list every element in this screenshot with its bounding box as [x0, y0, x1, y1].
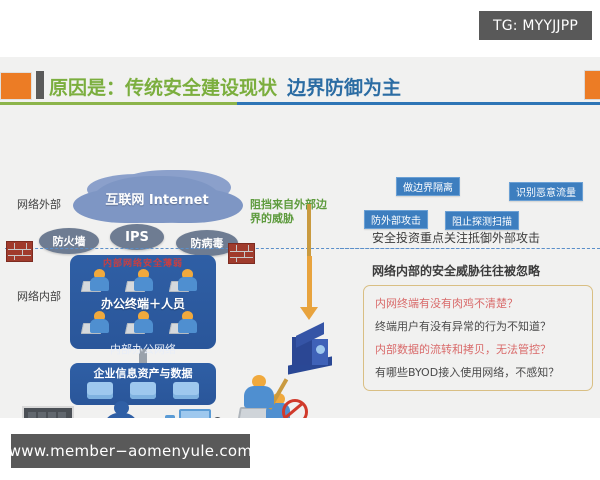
internal-network-secondary-label: 内部办公网络: [70, 341, 216, 357]
laptop-byod-icon: [22, 406, 74, 418]
question-item: 有哪些BYOD接入使用网络，不感知？: [375, 366, 559, 379]
internal-network-red-banner: 内部网络安全薄弱: [70, 256, 216, 269]
title-rule-blue: [237, 102, 600, 105]
tg-watermark-badge: TG: MYYJJPP: [479, 11, 592, 40]
internal-network-primary-label: 办公终端＋人员: [70, 295, 216, 312]
database-icon: [87, 382, 113, 399]
server-rack-icon: [288, 329, 332, 371]
title-orange-block-right: [584, 70, 600, 100]
user-workstation-icon: [170, 311, 204, 337]
down-arrow-head-icon: [300, 307, 318, 320]
device-ips: IPS: [110, 224, 164, 250]
analyst-person-icon: [240, 375, 280, 409]
slide-canvas: 原因是：传统安全建设现状 边界防御为主 网络外部 网络内部 互联网 Intern…: [0, 57, 600, 418]
database-icon: [173, 382, 199, 399]
zone-label-inside: 网络内部: [17, 288, 61, 304]
user-workstation-icon: [170, 269, 204, 295]
apt-attack-icon: [163, 405, 225, 418]
database-icon: [130, 382, 156, 399]
question-item: 终端用户有没有异常的行为不知道？: [375, 320, 551, 333]
firewall-brick-icon-left: [6, 241, 33, 262]
tag-identify-malicious-traffic: 识别恶意流量: [509, 182, 583, 201]
gold-divider: [307, 204, 311, 256]
statement-top: 安全投资重点关注抵御外部攻击: [372, 229, 540, 246]
title-grey-bar: [36, 71, 44, 99]
down-arrow-icon: [307, 256, 312, 309]
page-title: 原因是：传统安全建设现状 边界防御为主: [49, 73, 401, 99]
site-watermark-badge: www.member−aomenyule.com: [11, 434, 250, 468]
tag-external-attack-defense: 防外部攻击: [364, 210, 428, 229]
page-title-blue: 边界防御为主: [287, 73, 401, 100]
malicious-user-icon: [100, 401, 142, 418]
user-workstation-icon: [82, 311, 116, 337]
center-note-text: 阻挡来自外部边界的威胁: [250, 198, 336, 226]
firewall-brick-icon-right: [228, 243, 255, 264]
user-workstation-icon: [126, 311, 160, 337]
internet-cloud-label: 互联网 Internet: [93, 189, 221, 208]
question-item: 内部数据的流转和拷贝，无法管控？: [375, 343, 551, 356]
right-dashed-line: [340, 248, 600, 249]
zone-label-outside: 网络外部: [17, 196, 61, 212]
device-firewall: 防火墙: [39, 228, 99, 254]
tag-block-probe-scan: 阻止探测扫描: [445, 211, 519, 230]
user-workstation-icon: [126, 269, 160, 295]
user-workstation-icon: [82, 269, 116, 295]
tag-boundary-isolation: 做边界隔离: [396, 177, 460, 196]
page-title-green: 原因是：传统安全建设现状: [49, 73, 277, 100]
title-rule-green: [0, 102, 237, 105]
statement-bottom: 网络内部的安全威胁往往被忽略: [372, 262, 540, 279]
asset-data-label: 企业信息资产与数据: [70, 365, 216, 381]
question-item: 内网终端有没有肉鸡不清楚？: [375, 297, 518, 310]
title-orange-block-left: [0, 72, 32, 100]
